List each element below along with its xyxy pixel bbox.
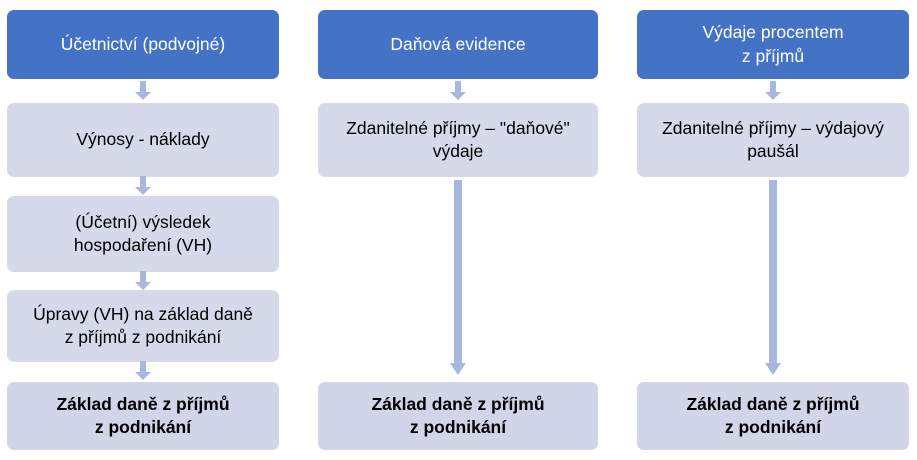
header-box-danova-evidence[interactable]: Daňová evidence: [318, 10, 598, 79]
step-box-ucetnictvi-1[interactable]: Výnosy - náklady: [7, 103, 279, 177]
result-label-vydaje-procentem: Základ daně z příjmů z podnikání: [686, 393, 859, 439]
header-label-ucetnictvi: Účetnictví (podvojné): [61, 33, 225, 56]
header-label-vydaje-procentem: Výdaje procentem z příjmů: [702, 21, 843, 67]
header-box-vydaje-procentem[interactable]: Výdaje procentem z příjmů: [637, 10, 909, 79]
step-label-ucetnictvi-1: Výnosy - náklady: [76, 128, 209, 151]
step-label-ucetnictvi-3: Úpravy (VH) na základ daně z příjmů z po…: [33, 303, 253, 349]
column-vydaje-procentem: Výdaje procentem z příjmů Zdanitelné pří…: [637, 0, 909, 460]
step-label-danova-evidence-1: Zdanitelné příjmy – "daňové" výdaje: [346, 117, 570, 163]
result-box-danova-evidence[interactable]: Základ daně z příjmů z podnikání: [318, 382, 598, 450]
column-ucetnictvi: Účetnictví (podvojné) Výnosy - náklady (…: [7, 0, 279, 460]
down-arrow-icon: [449, 81, 467, 101]
result-label-danova-evidence: Základ daně z příjmů z podnikání: [371, 393, 544, 439]
step-label-vydaje-procentem-1: Zdanitelné příjmy – výdajový paušál: [662, 117, 884, 163]
step-box-ucetnictvi-3[interactable]: Úpravy (VH) na základ daně z příjmů z po…: [7, 290, 279, 362]
down-arrow-icon: [134, 361, 152, 381]
down-arrow-icon: [764, 180, 782, 376]
down-arrow-icon: [134, 271, 152, 291]
step-box-vydaje-procentem-1[interactable]: Zdanitelné příjmy – výdajový paušál: [637, 103, 909, 177]
down-arrow-icon: [134, 81, 152, 101]
header-box-ucetnictvi[interactable]: Účetnictví (podvojné): [7, 10, 279, 79]
header-label-danova-evidence: Daňová evidence: [390, 33, 525, 56]
column-danova-evidence: Daňová evidence Zdanitelné příjmy – "daň…: [318, 0, 598, 460]
result-box-vydaje-procentem[interactable]: Základ daně z příjmů z podnikání: [637, 382, 909, 450]
down-arrow-icon: [764, 81, 782, 101]
step-box-danova-evidence-1[interactable]: Zdanitelné příjmy – "daňové" výdaje: [318, 103, 598, 177]
down-arrow-icon: [449, 180, 467, 376]
down-arrow-icon: [134, 176, 152, 196]
flowchart-diagram: Účetnictví (podvojné) Výnosy - náklady (…: [0, 0, 917, 460]
result-label-ucetnictvi: Základ daně z příjmů z podnikání: [56, 393, 229, 439]
step-box-ucetnictvi-2[interactable]: (Účetní) výsledek hospodaření (VH): [7, 196, 279, 272]
step-label-ucetnictvi-2: (Účetní) výsledek hospodaření (VH): [74, 211, 212, 257]
result-box-ucetnictvi[interactable]: Základ daně z příjmů z podnikání: [7, 382, 279, 450]
